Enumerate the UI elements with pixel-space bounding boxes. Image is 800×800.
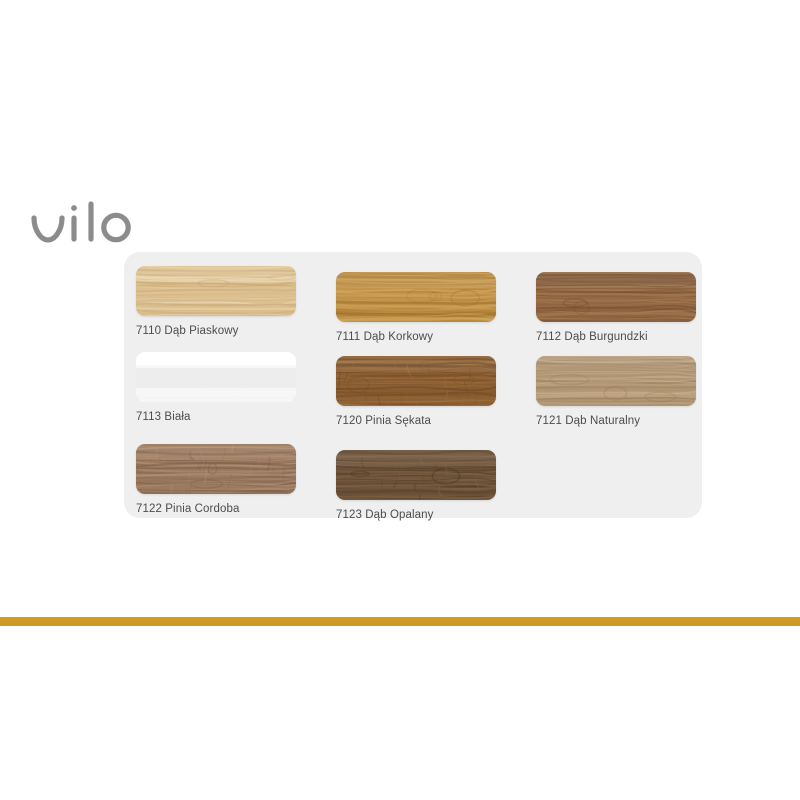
swatch-label: 7112 Dąb Burgundzki [536,331,696,343]
swatch-grid: 7110 Dąb Piaskowy7111 Dąb Korkowy7112 Dą… [124,252,702,518]
swatch-color-chip[interactable] [136,352,296,402]
wood-grain-texture [536,356,696,406]
wood-grain-texture [336,272,496,322]
vilo-i-dot-icon [71,205,77,211]
swatch-item-7123[interactable]: 7123 Dąb Opalany [336,450,496,521]
vilo-wordmark-icon [28,196,148,254]
swatch-label: 7122 Pinia Cordoba [136,503,296,515]
swatch-color-chip[interactable] [136,266,296,316]
swatch-item-7120[interactable]: 7120 Pinia Sękata [336,356,496,427]
swatch-color-chip[interactable] [536,272,696,322]
wood-grain-texture [336,450,496,500]
gold-divider-bar [0,617,800,626]
swatch-color-chip[interactable] [136,444,296,494]
swatch-label: 7123 Dąb Opalany [336,509,496,521]
vilo-o-icon [104,215,128,239]
swatch-item-7121[interactable]: 7121 Dąb Naturalny [536,356,696,427]
swatch-label: 7110 Dąb Piaskowy [136,325,296,337]
swatch-color-chip[interactable] [336,356,496,406]
swatch-color-chip[interactable] [536,356,696,406]
swatch-item-7122[interactable]: 7122 Pinia Cordoba [136,444,296,515]
wood-grain-texture [536,272,696,322]
swatch-label: 7111 Dąb Korkowy [336,331,496,343]
wood-grain-texture [136,352,296,402]
wood-grain-texture [136,266,296,316]
swatch-label: 7120 Pinia Sękata [336,415,496,427]
swatch-color-chip[interactable] [336,272,496,322]
swatch-item-7111[interactable]: 7111 Dąb Korkowy [336,272,496,343]
wood-grain-texture [336,356,496,406]
brand-logo [28,196,148,254]
swatch-item-7110[interactable]: 7110 Dąb Piaskowy [136,266,296,337]
swatch-label: 7121 Dąb Naturalny [536,415,696,427]
swatch-color-chip[interactable] [336,450,496,500]
swatch-label: 7113 Biała [136,411,296,423]
swatch-item-7113[interactable]: 7113 Biała [136,352,296,423]
swatch-card: 7110 Dąb Piaskowy7111 Dąb Korkowy7112 Dą… [124,252,702,518]
wood-grain-texture [136,444,296,494]
swatch-item-7112[interactable]: 7112 Dąb Burgundzki [536,272,696,343]
